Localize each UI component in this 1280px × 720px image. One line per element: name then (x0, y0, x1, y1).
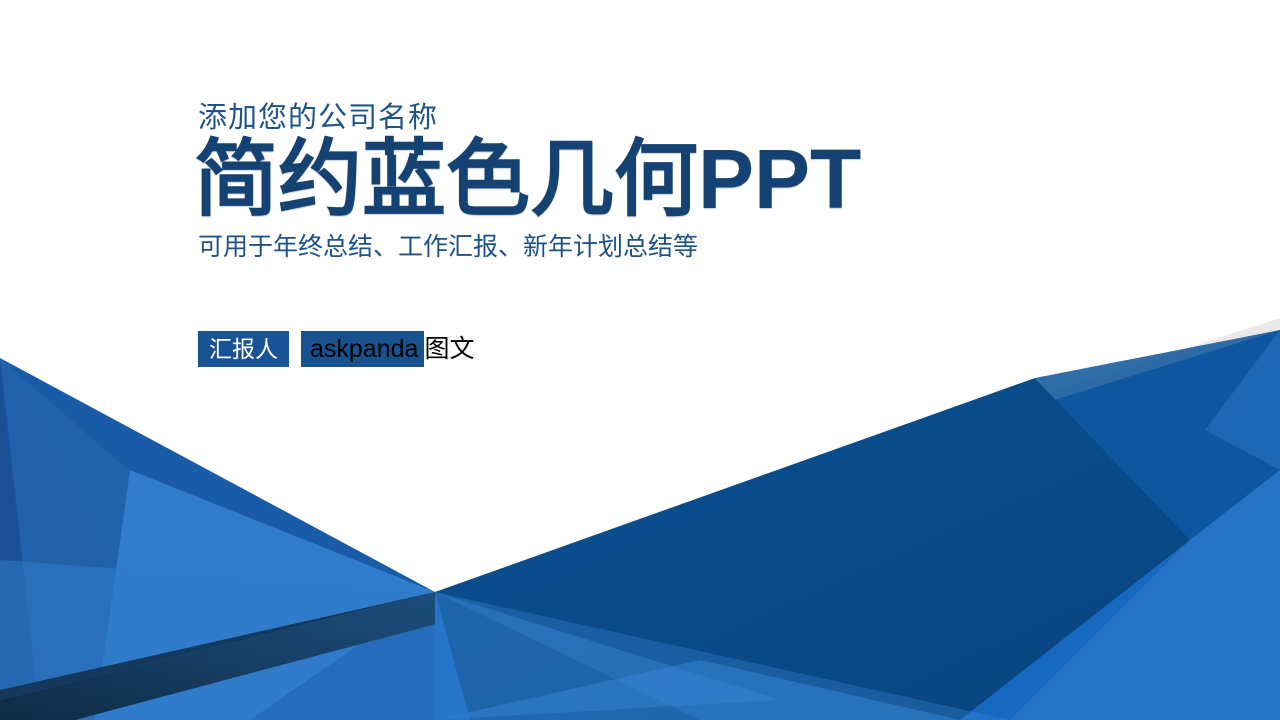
title-block: 添加您的公司名称 简约蓝色几何PPT 可用于年终总结、工作汇报、新年计划总结等 (196, 104, 1076, 260)
presenter-label-badge: 汇报人 (198, 331, 289, 367)
presentation-slide: 添加您的公司名称 简约蓝色几何PPT 可用于年终总结、工作汇报、新年计划总结等 … (0, 0, 1280, 720)
company-name: 添加您的公司名称 (198, 104, 1076, 133)
presenter-name-latin: askpanda (301, 331, 424, 367)
presenter-name-cjk: 图文 (424, 331, 474, 367)
page-title: 简约蓝色几何PPT (194, 137, 1076, 221)
presenter-name: askpanda 图文 (301, 331, 474, 367)
slide-slogan: 可用于年终总结、工作汇报、新年计划总结等 (198, 235, 1076, 260)
presenter-row: 汇报人 askpanda 图文 (198, 331, 474, 367)
